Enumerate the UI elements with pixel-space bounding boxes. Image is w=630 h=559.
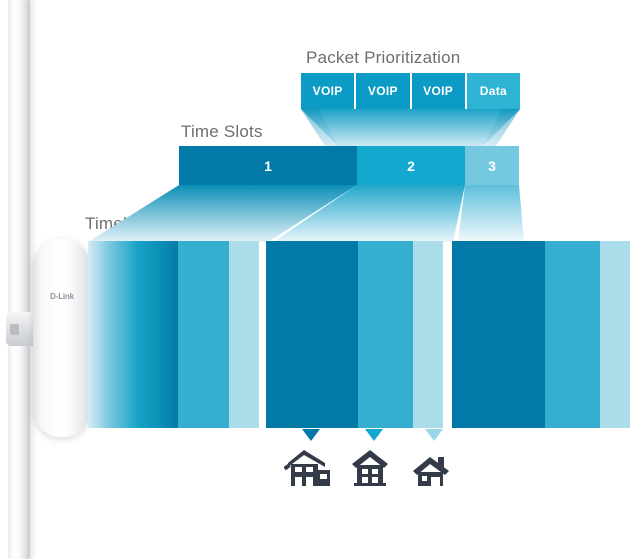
timeline-band-mid: [545, 241, 600, 428]
timeline-band-dark: [452, 241, 545, 428]
packet-cell-voip-3: VOIP: [412, 73, 467, 109]
mounting-pole: [8, 0, 30, 559]
timeline-band-light: [229, 241, 259, 428]
packet-cell-data: Data: [467, 73, 520, 109]
packet-cell-voip-2: VOIP: [356, 73, 411, 109]
timeline-band-dark: [266, 241, 358, 428]
packet-prioritization-row: VOIP VOIP VOIP Data: [301, 73, 520, 109]
packet-cell-voip-1: VOIP: [301, 73, 356, 109]
packet-prioritization-label: Packet Prioritization: [306, 48, 460, 68]
timeline-band-light: [413, 241, 443, 428]
time-slot-2: 2: [357, 146, 465, 185]
dlink-access-point: D-Link: [33, 239, 91, 437]
house-chimney-icon: [412, 455, 450, 486]
dlink-logo: D-Link: [33, 292, 91, 301]
house-two-story-icon: [284, 450, 330, 486]
timeline-band-dark: [88, 241, 178, 428]
timeline-group-3: [452, 241, 630, 428]
time-slot-1: 1: [179, 146, 357, 185]
timeline-group-1: [88, 241, 259, 428]
timeline-band-light: [600, 241, 630, 428]
timeline-bands: [88, 241, 630, 428]
funnel-packets-to-slots: [301, 109, 520, 146]
timeline-group-2: [266, 241, 443, 428]
house-windows-icon: [352, 450, 388, 486]
time-slot-3: 3: [465, 146, 519, 185]
bracket-knob: [10, 324, 19, 335]
diagram-canvas: D-Link Packet Prioritization Time Slots …: [0, 0, 630, 559]
timeline-band-mid: [178, 241, 229, 428]
client-arrow-3: [425, 429, 443, 441]
time-slots-label: Time Slots: [181, 122, 263, 142]
timeline-band-mid: [358, 241, 413, 428]
client-arrow-2: [365, 429, 383, 441]
funnel-slots-to-timeline: [88, 185, 524, 242]
client-arrow-1: [302, 429, 320, 441]
time-slots-row: 1 2 3: [179, 146, 519, 185]
